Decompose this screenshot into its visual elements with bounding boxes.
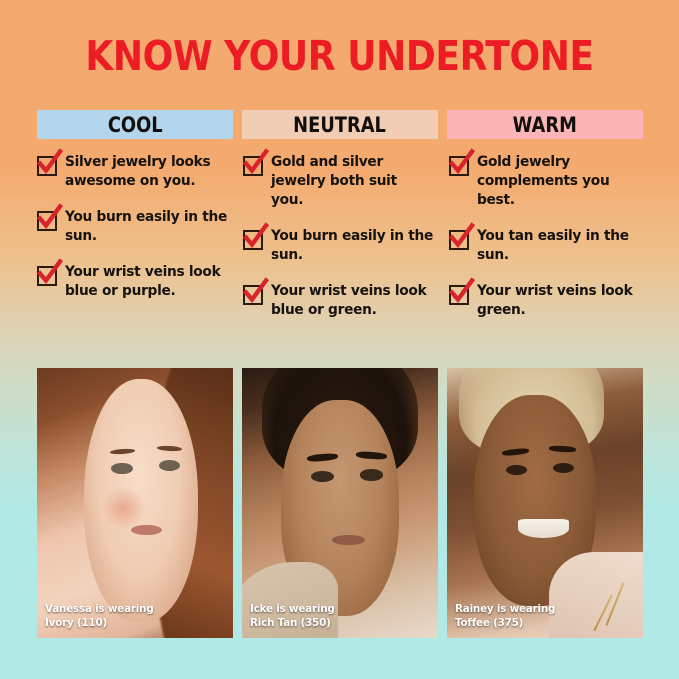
checkmark-icon — [449, 230, 469, 250]
photo-caption: Rainey is wearing Toffee (375) — [455, 602, 555, 629]
checkmark-icon — [243, 156, 263, 176]
column-header-neutral: NEUTRAL — [242, 110, 438, 139]
list-item-text: You burn easily in the sun. — [271, 227, 433, 265]
list-item-text: Your wrist veins look green. — [477, 282, 639, 320]
list-item-text: Your wrist veins look blue or purple. — [65, 263, 227, 301]
column-header-neutral-label: NEUTRAL — [294, 113, 387, 137]
list-item: You burn easily in the sun. — [37, 208, 234, 246]
list-item-text: Gold jewelry complements you best. — [477, 153, 639, 210]
checkmark-icon — [449, 156, 469, 176]
checklist-column-neutral: Gold and silver jewelry both suit you. Y… — [243, 153, 440, 320]
list-item-text: You tan easily in the sun. — [477, 227, 639, 265]
model-photo-icke: Icke is wearing Rich Tan (350) — [242, 368, 438, 638]
column-headers: COOL NEUTRAL WARM — [37, 110, 643, 139]
checklist-column-warm: Gold jewelry complements you best. You t… — [449, 153, 646, 320]
undertone-infographic: KNOW YOUR UNDERTONE COOL NEUTRAL WARM Si… — [0, 0, 679, 679]
model-photo-row: Vanessa is wearing Ivory (110) Icke is w… — [37, 368, 643, 638]
column-header-warm: WARM — [447, 110, 643, 139]
checkmark-icon — [37, 211, 57, 231]
list-item-text: Your wrist veins look blue or green. — [271, 282, 433, 320]
column-header-warm-label: WARM — [513, 113, 577, 137]
model-photo-rainey: Rainey is wearing Toffee (375) — [447, 368, 643, 638]
list-item-text: Gold and silver jewelry both suit you. — [271, 153, 433, 210]
list-item: Gold and silver jewelry both suit you. — [243, 153, 440, 210]
model-photo-vanessa: Vanessa is wearing Ivory (110) — [37, 368, 233, 638]
checklist-column-cool: Silver jewelry looks awesome on you. You… — [37, 153, 234, 320]
list-item: You burn easily in the sun. — [243, 227, 440, 265]
checkmark-icon — [243, 230, 263, 250]
list-item: Gold jewelry complements you best. — [449, 153, 646, 210]
column-header-cool: COOL — [37, 110, 233, 139]
photo-caption: Icke is wearing Rich Tan (350) — [250, 602, 335, 629]
list-item: Your wrist veins look blue or purple. — [37, 263, 234, 301]
column-header-cool-label: COOL — [108, 113, 163, 137]
photo-caption: Vanessa is wearing Ivory (110) — [45, 602, 154, 629]
list-item: Silver jewelry looks awesome on you. — [37, 153, 234, 191]
page-title: KNOW YOUR UNDERTONE — [41, 33, 639, 79]
list-item-text: Silver jewelry looks awesome on you. — [65, 153, 227, 191]
list-item: You tan easily in the sun. — [449, 227, 646, 265]
list-item: Your wrist veins look green. — [449, 282, 646, 320]
checkmark-icon — [449, 285, 469, 305]
list-item-text: You burn easily in the sun. — [65, 208, 227, 246]
checkmark-icon — [37, 266, 57, 286]
list-item: Your wrist veins look blue or green. — [243, 282, 440, 320]
checkmark-icon — [243, 285, 263, 305]
checklist-columns: Silver jewelry looks awesome on you. You… — [37, 153, 657, 320]
checkmark-icon — [37, 156, 57, 176]
